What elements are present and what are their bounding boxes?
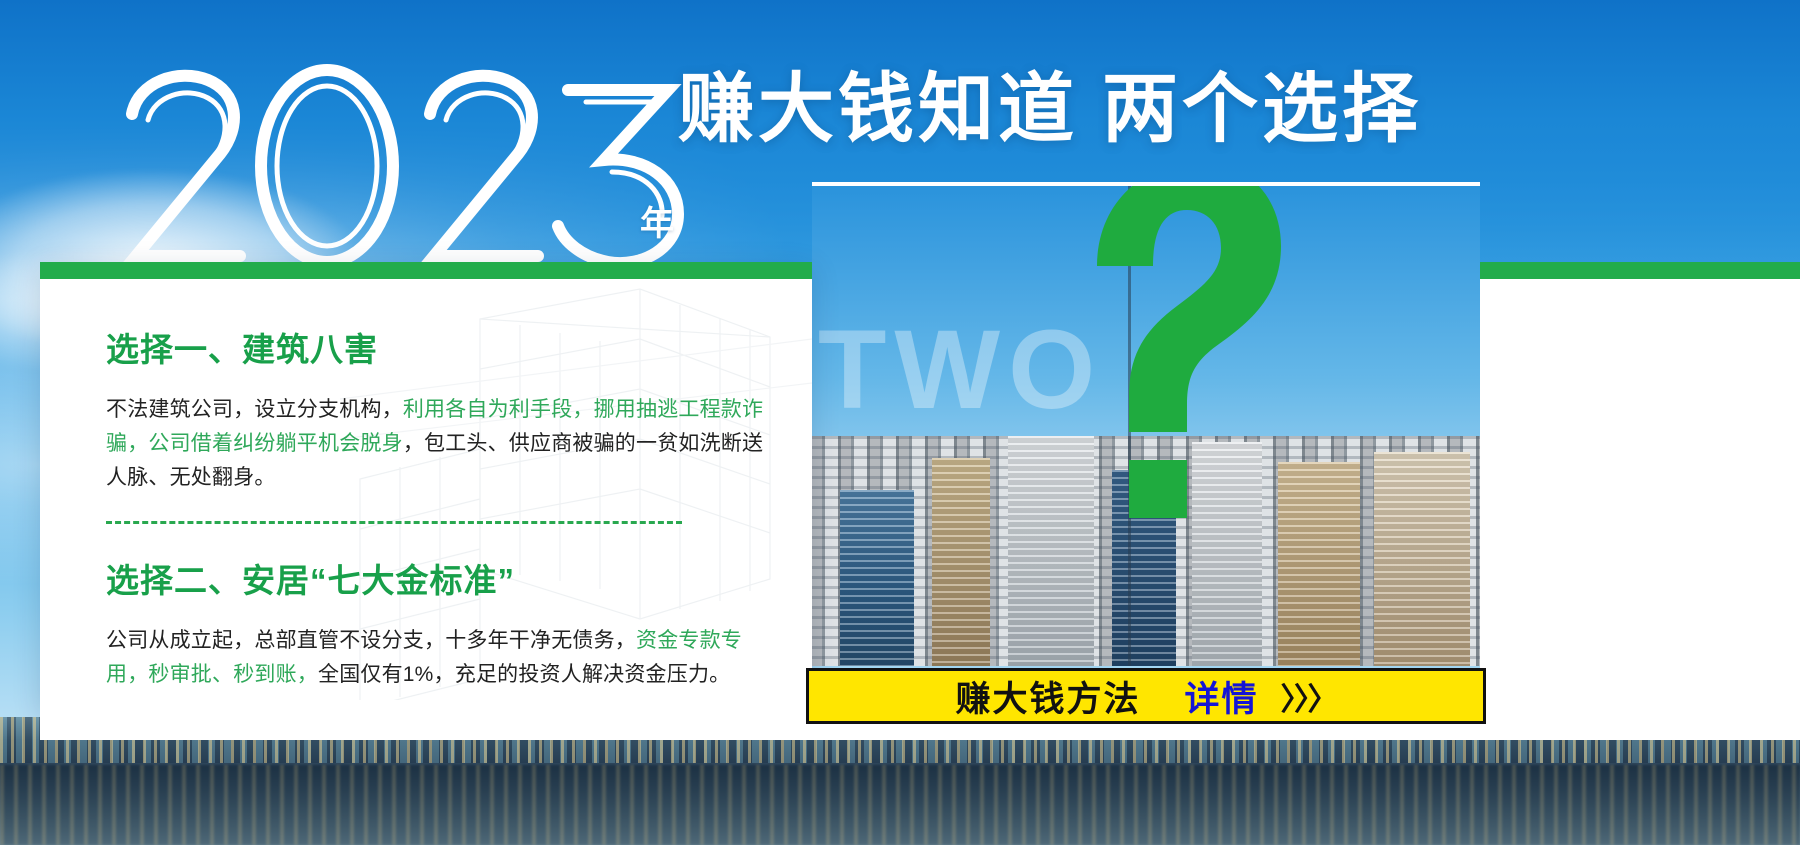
section-two-body: 公司从成立起，总部直管不设分支，十多年干净无债务，资金专款专用，秒审批、秒到账，… bbox=[106, 624, 766, 692]
ghost-line-1: TWO bbox=[818, 307, 1103, 432]
section-one-body: 不法建筑公司，设立分支机构，利用各自为利手段，挪用抽逃工程款诈骗，公司借着纠纷躺… bbox=[106, 393, 766, 495]
headline-left: 赚大钱知道 bbox=[678, 67, 1078, 152]
section-two-text-a: 公司从成立起，总部直管不设分支，十多年干净无债务， bbox=[106, 629, 636, 652]
section-two-text-b: 全国仅有1%，充足的投资人解决资金压力。 bbox=[318, 663, 730, 686]
section-one-title: 选择一、建筑八害 bbox=[106, 323, 766, 371]
right-green-band bbox=[1480, 262, 1800, 279]
cta-detail-link[interactable]: 详情 bbox=[1185, 671, 1259, 722]
poster-canvas: 年 赚大钱知道两个选择 TWO CHOICES bbox=[0, 0, 1800, 845]
section-one-text-a: 不法建筑公司，设立分支机构， bbox=[106, 398, 403, 421]
section-two-title: 选择二、安居“七大金标准” bbox=[106, 554, 766, 602]
dashed-divider bbox=[106, 521, 682, 524]
chevron-right-icon: 〉〉〉 bbox=[1281, 674, 1337, 719]
cta-main-label: 赚大钱方法 bbox=[955, 671, 1140, 722]
white-right-panel bbox=[1480, 279, 1800, 740]
card-green-topbar bbox=[40, 262, 812, 279]
question-mark-icon bbox=[1067, 186, 1287, 574]
year-suffix-label: 年 bbox=[640, 196, 675, 245]
page-title: 赚大钱知道两个选择 bbox=[678, 72, 1422, 148]
headline-right: 两个选择 bbox=[1102, 67, 1422, 152]
cta-button[interactable]: 赚大钱方法 详情 〉〉〉 bbox=[806, 668, 1486, 724]
content-card: 选择一、建筑八害 不法建筑公司，设立分支机构，利用各自为利手段，挪用抽逃工程款诈… bbox=[40, 262, 812, 714]
right-photo-panel: TWO CHOICES bbox=[812, 186, 1480, 666]
